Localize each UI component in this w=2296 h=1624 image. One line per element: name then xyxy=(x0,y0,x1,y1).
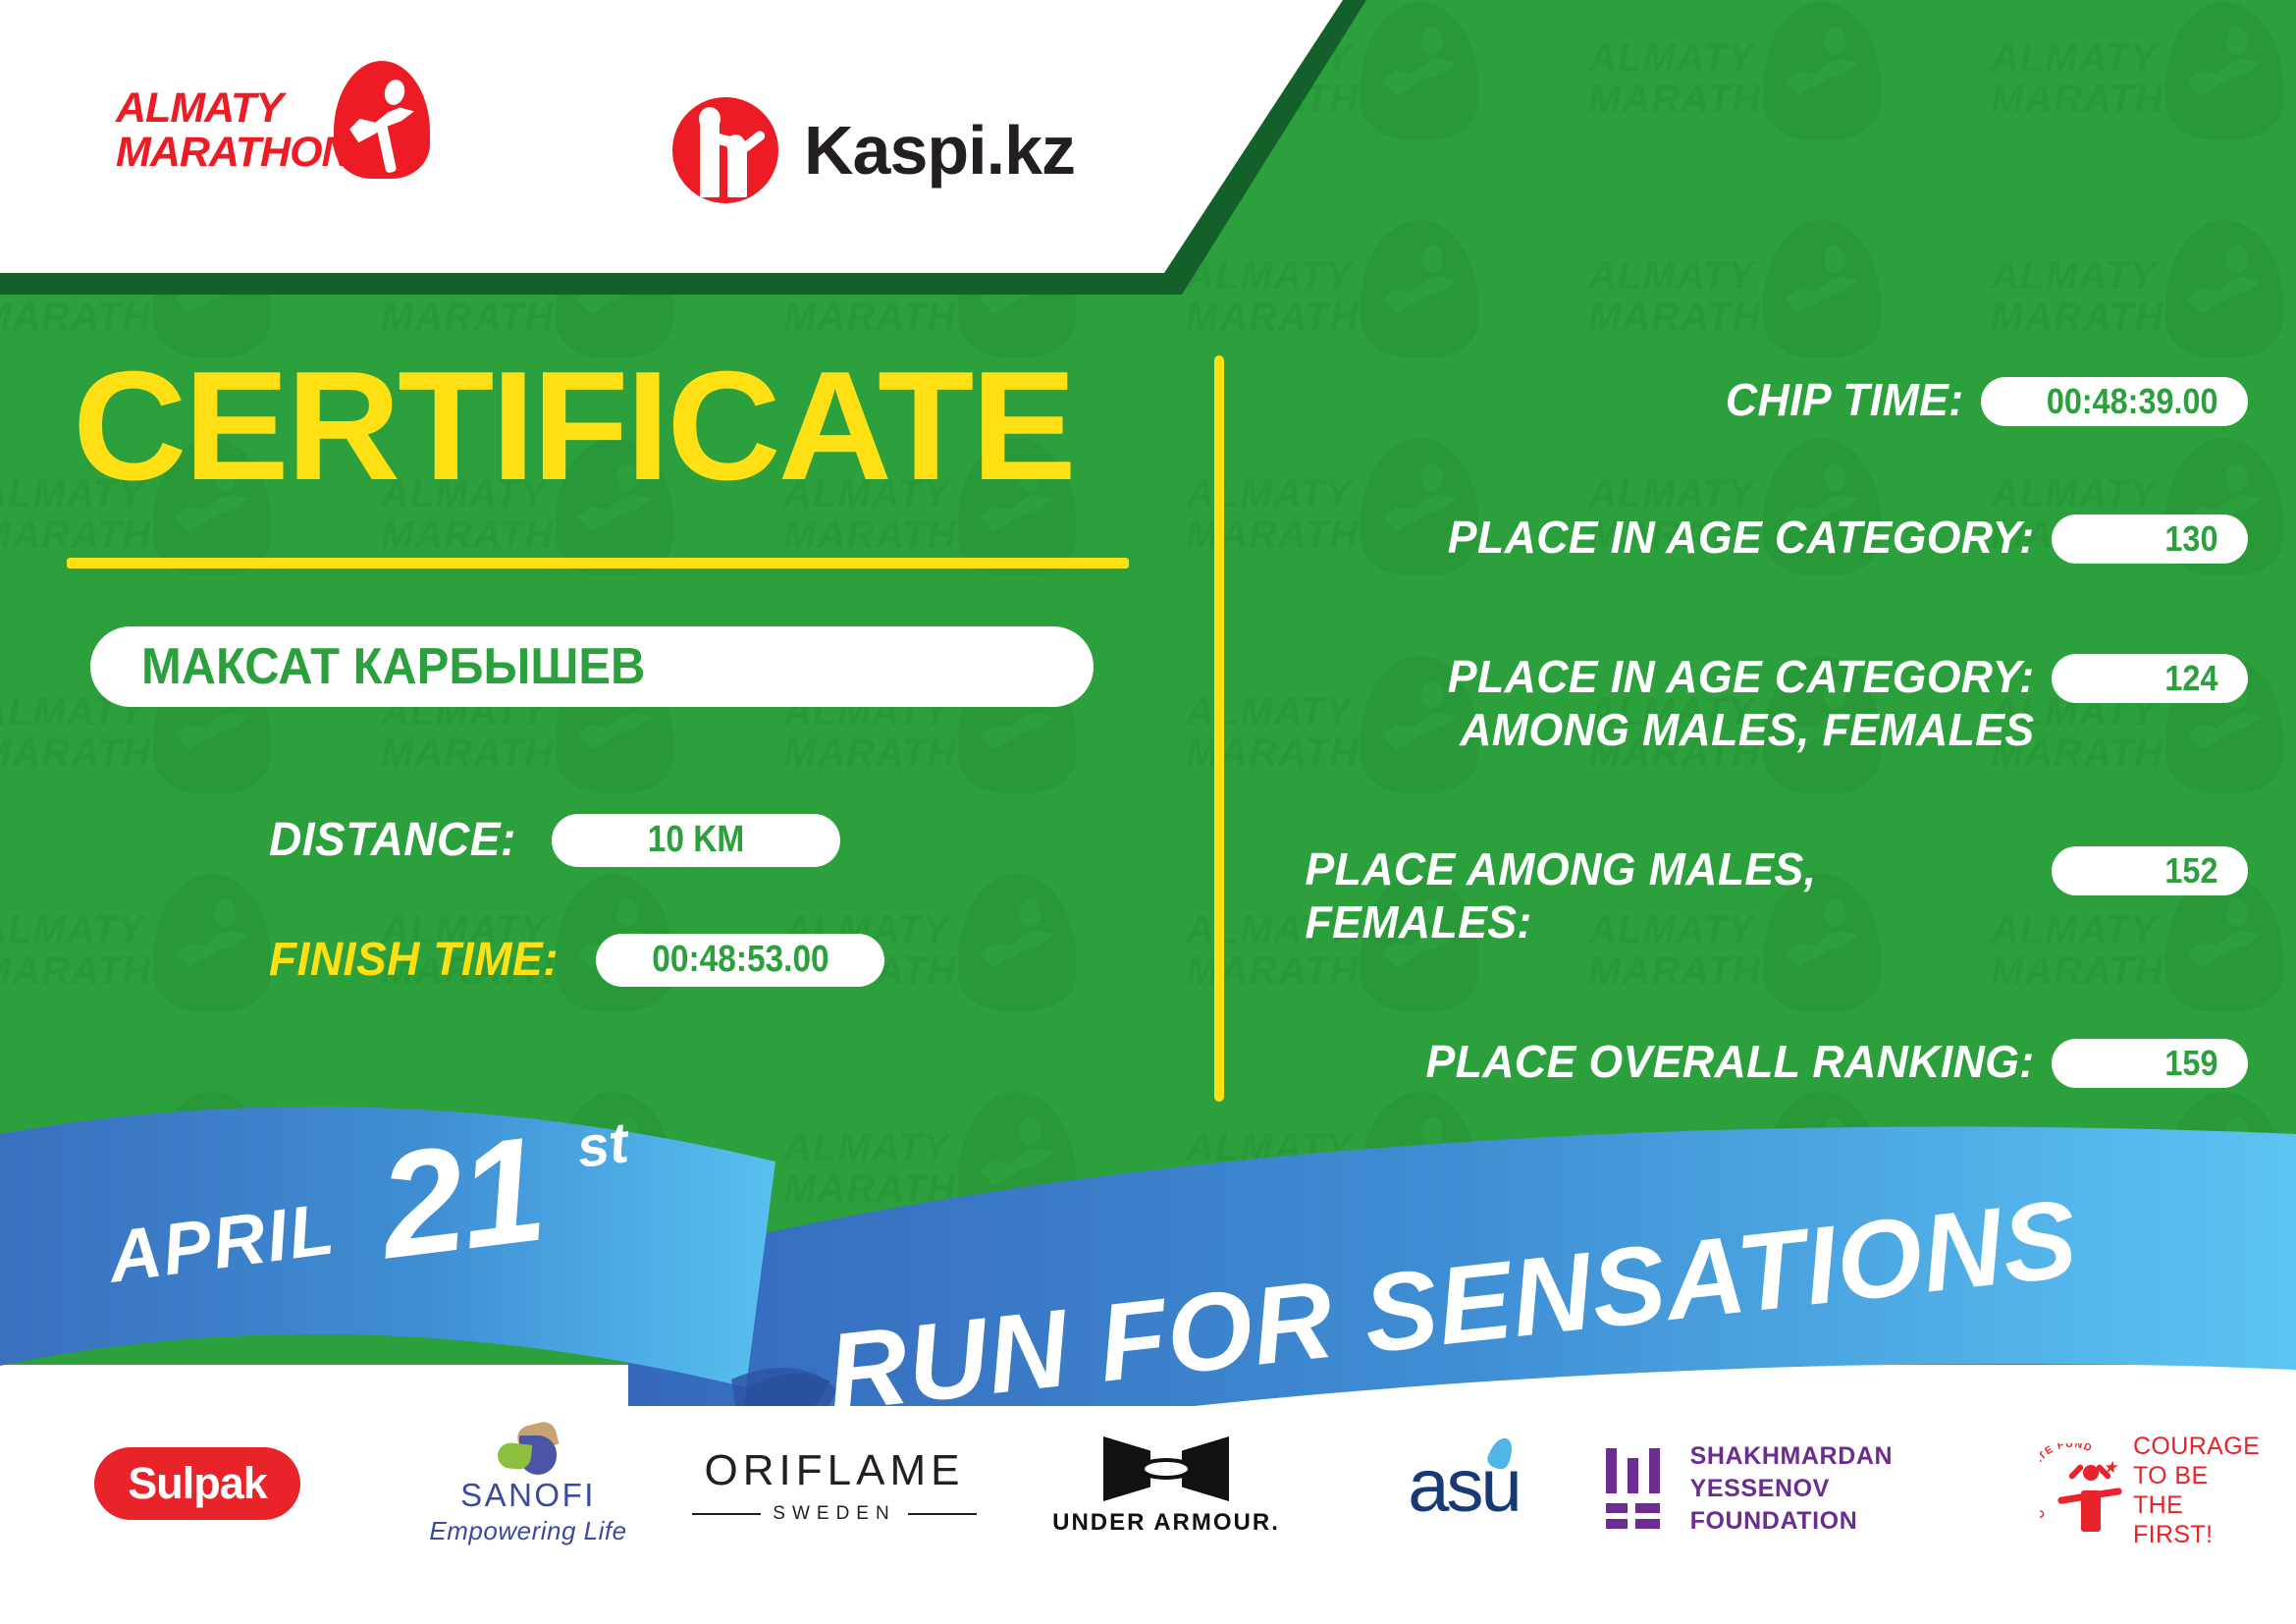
stat-row-place-among-gender: PLACE AMONG MALES, FEMALES: 152 xyxy=(1266,842,2248,948)
yessenov-line2: FOUNDATION xyxy=(1690,1507,1858,1535)
watermark-text: ALMATYMARATHON xyxy=(1588,255,1822,338)
ribbon-ordinal: st xyxy=(573,1110,631,1181)
stat-row-place-age-category: PLACE IN AGE CATEGORY: 130 xyxy=(1266,511,2248,564)
watermark-drop-icon xyxy=(2165,2,2283,139)
oriflame-wordmark: ORIFLAME xyxy=(705,1446,965,1495)
oriflame-sub-label: SWEDEN xyxy=(773,1503,895,1525)
watermark-text: ALMATYMARATHON xyxy=(1186,255,1419,338)
watermark-drop-icon xyxy=(1763,2,1881,139)
distance-value: 10 KM xyxy=(648,819,744,861)
header-logos: ALMATY MARATHON Kaspi.kz xyxy=(0,0,1178,281)
watermark-text: ALMATYMARATHON xyxy=(1588,37,1822,120)
watermark-text: ALMATYMARATHON xyxy=(1991,255,2224,338)
finish-time-row: FINISH TIME: 00:48:53.00 xyxy=(269,933,884,987)
courage-line3: THE FIRST! xyxy=(2133,1491,2214,1548)
sponsor-courage-fund: CORPORATE FUND ★ COURAGE TO BE THE FIRST… xyxy=(2040,1428,2266,1553)
sponsor-asu: asu xyxy=(1370,1443,1557,1528)
under-armour-logo-icon xyxy=(1103,1436,1229,1501)
kaspi-logo: Kaspi.kz xyxy=(672,86,1085,214)
finish-time-label: FINISH TIME: xyxy=(269,933,559,987)
courage-line2: TO BE xyxy=(2133,1462,2209,1489)
sanofi-tagline: Empowering Life xyxy=(429,1516,626,1546)
chip-time-pill: 00:48:39.00 xyxy=(1981,377,2248,426)
chip-time-label: CHIP TIME: xyxy=(1288,373,1981,426)
place-among-gender-pill: 152 xyxy=(2052,846,2248,895)
place-age-category-gender-pill: 124 xyxy=(2052,654,2248,703)
place-among-gender-value: 152 xyxy=(2164,850,2248,892)
sponsor-sanofi: SANOFI Empowering Life xyxy=(410,1422,646,1547)
sponsor-oriflame: ORIFLAME SWEDEN xyxy=(687,1439,982,1532)
athlete-name-field: МАКСАТ КАРБЫШЕВ xyxy=(90,626,1094,707)
place-age-category-label: PLACE IN AGE CATEGORY: xyxy=(1290,511,2052,564)
oriflame-sub: SWEDEN xyxy=(687,1503,982,1525)
courage-wordmark: COURAGE TO BE THE FIRST! xyxy=(2133,1432,2266,1549)
stat-row-chip-time: CHIP TIME: 00:48:39.00 xyxy=(1266,373,2248,426)
kaspi-adult-body-icon xyxy=(700,113,720,197)
sponsor-bar: Sulpak SANOFI Empowering Life ORIFLAME S… xyxy=(0,1406,2296,1624)
asu-wordmark: asu xyxy=(1408,1443,1520,1529)
watermark-drop-icon xyxy=(1361,2,1478,139)
watermark-drop-icon xyxy=(1361,220,1478,357)
place-age-category-pill: 130 xyxy=(2052,514,2248,564)
distance-row: DISTANCE: 10 KM xyxy=(269,813,840,867)
sulpak-wordmark: Sulpak xyxy=(128,1458,267,1509)
page-title: CERTIFICATE xyxy=(73,348,1074,505)
distance-label: DISTANCE: xyxy=(269,813,516,867)
sanofi-wordmark: SANOFI xyxy=(460,1477,596,1514)
watermark-text: ALMATYMARATHON xyxy=(1991,37,2224,120)
ribbon-day: 21 xyxy=(371,1104,551,1294)
runner-drop-icon xyxy=(334,61,430,179)
watermark-drop-icon xyxy=(1763,220,1881,357)
vertical-divider xyxy=(1214,355,1224,1102)
almaty-marathon-logo: ALMATY MARATHON xyxy=(116,61,430,193)
courage-line1: COURAGE xyxy=(2133,1433,2260,1460)
sponsor-sulpak: Sulpak xyxy=(94,1447,300,1520)
athlete-name-value: МАКСАТ КАРБЫШЕВ xyxy=(141,637,645,696)
watermark-cell: ALMATYMARATHON xyxy=(1973,0,2296,198)
kaspi-child-arm-icon xyxy=(739,129,767,153)
courage-fund-icon: CORPORATE FUND ★ xyxy=(2040,1443,2119,1538)
sanofi-mark-icon xyxy=(496,1424,561,1475)
runner-head-icon xyxy=(382,78,407,107)
finish-time-value: 00:48:53.00 xyxy=(652,939,828,981)
place-age-category-gender-value: 124 xyxy=(2164,658,2248,699)
place-age-category-gender-label: PLACE IN AGE CATEGORY: AMONG MALES, FEMA… xyxy=(1290,650,2052,756)
under-armour-wordmark: UNDER ARMOUR. xyxy=(1052,1509,1280,1537)
place-age-category-value: 130 xyxy=(2164,518,2248,560)
yessenov-wordmark: SHAKHMARDAN YESSENOV FOUNDATION xyxy=(1690,1440,1999,1538)
yessenov-line1: SHAKHMARDAN YESSENOV xyxy=(1690,1442,1894,1502)
sponsor-under-armour: UNDER ARMOUR. xyxy=(1048,1428,1284,1545)
place-among-gender-label: PLACE AMONG MALES, FEMALES: xyxy=(1290,842,2052,948)
sponsor-yessenov-foundation: SHAKHMARDAN YESSENOV FOUNDATION xyxy=(1606,1437,1999,1540)
finish-time-pill: 00:48:53.00 xyxy=(596,934,884,987)
kaspi-wordmark: Kaspi.kz xyxy=(804,111,1075,189)
watermark-cell: ALMATYMARATHON xyxy=(1571,0,1973,198)
distance-pill: 10 KM xyxy=(552,814,840,867)
runner-leg-icon xyxy=(376,121,398,173)
yessenov-mark-icon xyxy=(1606,1448,1669,1529)
stat-row-place-age-category-gender: PLACE IN AGE CATEGORY: AMONG MALES, FEMA… xyxy=(1266,650,2248,756)
certificate-root: ALMATYMARATHONALMATYMARATHONALMATYMARATH… xyxy=(0,0,2296,1624)
kaspi-family-icon xyxy=(672,97,778,203)
courage-runner-icon: ★ xyxy=(2069,1459,2112,1532)
watermark-drop-icon xyxy=(2165,220,2283,357)
chip-time-value: 00:48:39.00 xyxy=(2047,381,2248,422)
title-underline xyxy=(67,558,1129,568)
